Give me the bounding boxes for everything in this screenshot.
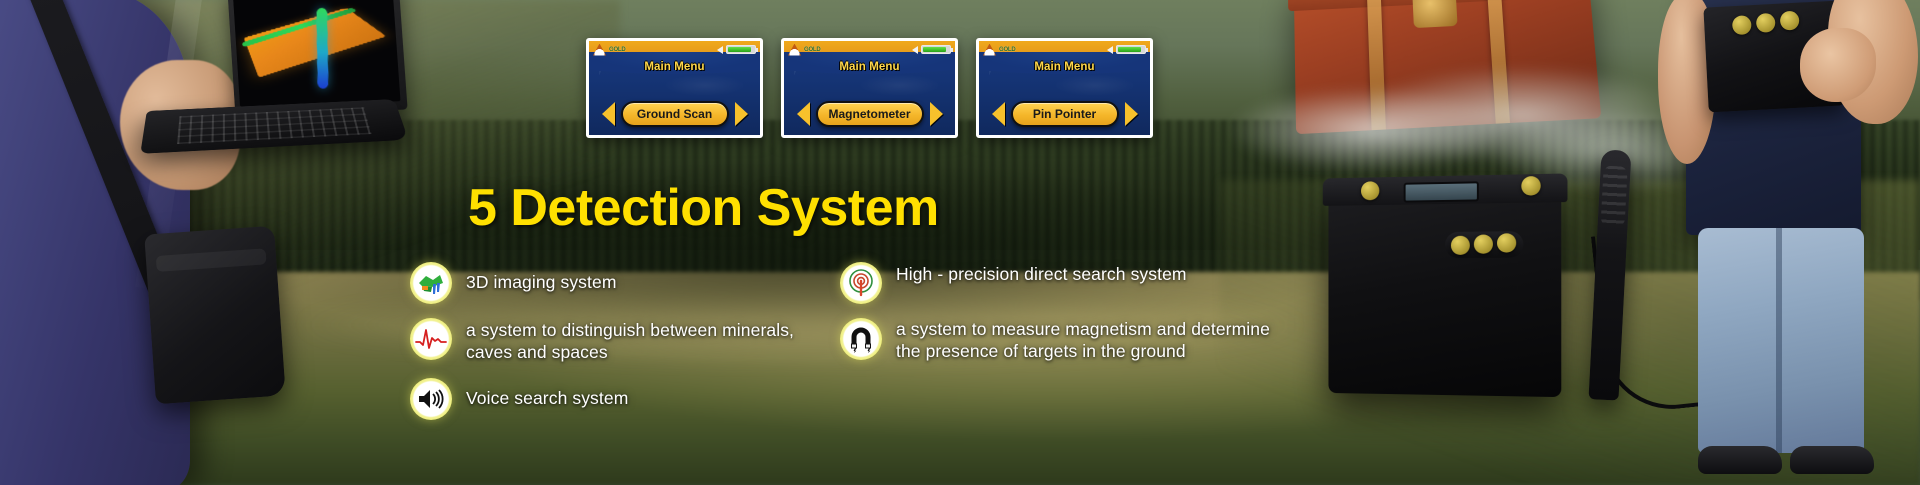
battery-icon — [1116, 45, 1146, 54]
device-brand: GOLD — [983, 44, 1016, 56]
equipment-bag — [144, 226, 286, 405]
brand-label: GOLD — [609, 47, 626, 53]
3d-scan-plot — [244, 8, 386, 78]
chest-lock-icon — [1412, 0, 1457, 28]
mode-button[interactable]: Ground Scan — [621, 101, 729, 127]
detector-knob — [1451, 236, 1470, 255]
feature-item-magnetism: a system to measure magnetism and determ… — [840, 318, 1290, 363]
device-panel-ground-scan[interactable]: GOLD Main Menu Ground Scan — [586, 38, 763, 138]
device-menu-selector: Magnetometer — [784, 101, 955, 127]
speaker-icon — [1107, 46, 1113, 54]
person-right-shoe — [1790, 446, 1874, 474]
detector-lcd-screen — [1404, 181, 1479, 202]
speaker-sound-icon — [410, 378, 452, 420]
feature-label: Voice search system — [466, 378, 628, 409]
detector-knob — [1497, 233, 1516, 252]
person-right-hand — [1800, 28, 1876, 102]
prev-mode-arrow-icon[interactable] — [992, 102, 1005, 126]
detector-knob — [1756, 13, 1776, 33]
device-menu-title: Main Menu — [979, 61, 1150, 73]
prev-mode-arrow-icon[interactable] — [797, 102, 810, 126]
brand-logo-icon — [593, 44, 606, 56]
device-status-bar: GOLD — [784, 41, 955, 58]
device-panel-pin-pointer[interactable]: GOLD Main Menu Pin Pointer — [976, 38, 1153, 138]
feature-item-high-precision-search: High - precision direct search system — [840, 262, 1290, 304]
device-panel-magnetometer[interactable]: GOLD Main Menu Magnetometer — [781, 38, 958, 138]
magnet-icon — [840, 318, 882, 360]
laptop-screen — [233, 0, 401, 107]
person-right-shoe — [1698, 446, 1782, 474]
device-menu-selector: Pin Pointer — [979, 101, 1150, 127]
brand-logo-icon — [788, 44, 801, 56]
feature-column-right: High - precision direct search system a … — [840, 262, 1290, 377]
detector-knob — [1474, 234, 1493, 253]
feature-item-3d-imaging: 3D imaging system — [410, 262, 830, 304]
device-brand: GOLD — [788, 44, 821, 56]
device-status-bar: GOLD — [979, 41, 1150, 58]
mode-button[interactable]: Pin Pointer — [1011, 101, 1119, 127]
laptop-lid — [227, 0, 407, 114]
device-menu-title: Main Menu — [589, 61, 760, 73]
battery-icon — [726, 45, 756, 54]
laptop-keyboard — [177, 107, 372, 144]
promo-banner: GOLD Main Menu Ground Scan GOLD — [0, 0, 1920, 485]
laptop — [145, 0, 405, 157]
laptop-base — [140, 99, 408, 154]
detector-knob — [1732, 15, 1752, 35]
device-status-bar: GOLD — [589, 41, 760, 58]
device-status-indicators — [717, 45, 756, 54]
page-title: 5 Detection System — [468, 178, 939, 238]
next-mode-arrow-icon[interactable] — [735, 102, 748, 126]
feature-item-voice-search: Voice search system — [410, 378, 830, 420]
device-menu-title: Main Menu — [784, 61, 955, 73]
next-mode-arrow-icon[interactable] — [930, 102, 943, 126]
device-status-indicators — [1107, 45, 1146, 54]
detector-knob — [1780, 11, 1800, 31]
device-menu-panels: GOLD Main Menu Ground Scan GOLD — [586, 38, 1153, 138]
speaker-icon — [717, 46, 723, 54]
signal-target-icon — [840, 262, 882, 304]
mode-button[interactable]: Magnetometer — [816, 101, 924, 127]
next-mode-arrow-icon[interactable] — [1125, 102, 1138, 126]
person-right — [1640, 0, 1920, 485]
device-menu-selector: Ground Scan — [589, 101, 760, 127]
feature-label: a system to measure magnetism and determ… — [896, 318, 1290, 363]
detector-button-strip — [1445, 231, 1523, 258]
person-right-jeans — [1698, 228, 1864, 453]
brand-label: GOLD — [804, 47, 821, 53]
brand-logo-icon — [983, 44, 996, 56]
feature-label: 3D imaging system — [466, 262, 617, 293]
brand-label: GOLD — [999, 47, 1016, 53]
feature-column-left: 3D imaging system a system to distinguis… — [410, 262, 830, 434]
speaker-icon — [912, 46, 918, 54]
detector-case — [1328, 188, 1561, 397]
feature-label: a system to distinguish between minerals… — [466, 318, 830, 364]
3d-terrain-icon — [410, 262, 452, 304]
prev-mode-arrow-icon[interactable] — [602, 102, 615, 126]
feature-item-mineral-discrimination: a system to distinguish between minerals… — [410, 318, 830, 364]
feature-label: High - precision direct search system — [896, 262, 1187, 285]
device-status-indicators — [912, 45, 951, 54]
device-brand: GOLD — [593, 44, 626, 56]
waveform-pulse-icon — [410, 318, 452, 360]
3d-scan-target-spike — [316, 8, 328, 89]
battery-icon — [921, 45, 951, 54]
